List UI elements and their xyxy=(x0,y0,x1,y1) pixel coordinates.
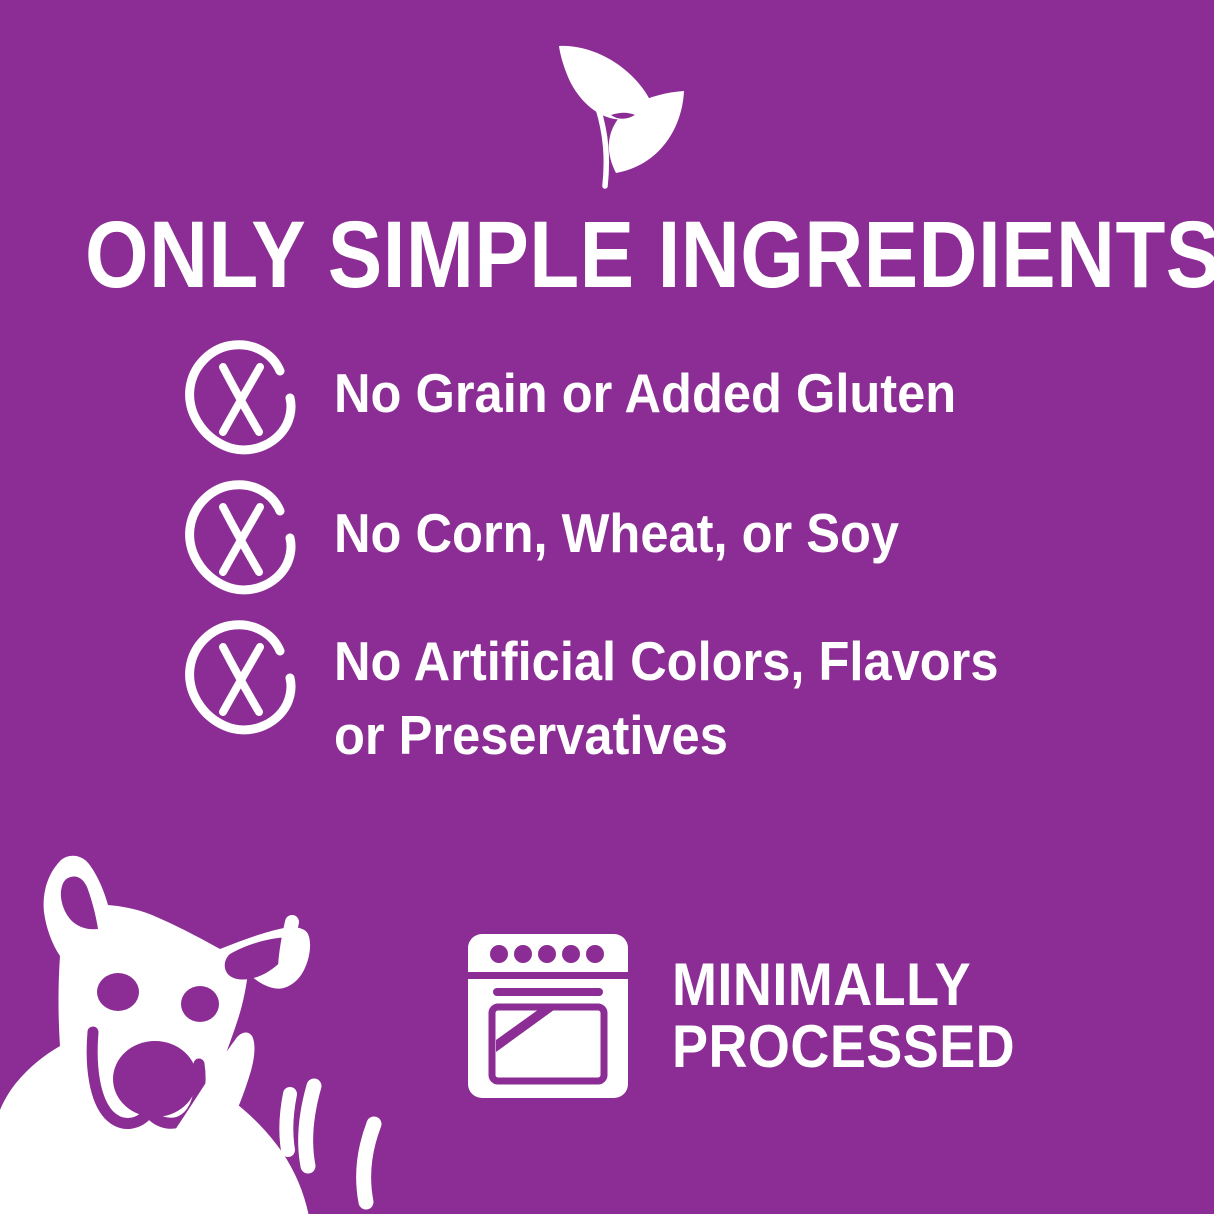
x-circle-icon xyxy=(180,476,302,598)
ingredient-claims-panel: ONLY SIMPLE INGREDIENTS No Grain or Adde… xyxy=(0,0,1214,1214)
x-circle-icon xyxy=(180,336,302,458)
list-item-label: No Artificial Colors, Flavors or Preserv… xyxy=(334,616,1020,772)
minimally-processed-line2: PROCESSED xyxy=(672,1016,1015,1078)
leaf-logo-icon xyxy=(532,36,690,196)
list-item: No Grain or Added Gluten xyxy=(180,336,1080,458)
list-item-line1: No Grain or Added Gluten xyxy=(334,362,956,424)
minimally-processed-line1: MINIMALLY xyxy=(672,951,971,1018)
claims-list: No Grain or Added Gluten No Corn, Wheat,… xyxy=(180,336,1080,790)
x-circle-icon xyxy=(180,616,302,738)
list-item: No Corn, Wheat, or Soy xyxy=(180,476,1080,598)
minimally-processed-badge: MINIMALLY PROCESSED xyxy=(462,928,1053,1104)
list-item-line2: or Preservatives xyxy=(334,698,1020,772)
minimally-processed-label: MINIMALLY PROCESSED xyxy=(672,954,1015,1078)
list-item-label: No Corn, Wheat, or Soy xyxy=(334,476,1020,570)
list-item-line1: No Corn, Wheat, or Soy xyxy=(334,502,899,564)
list-item-line1: No Artificial Colors, Flavors xyxy=(334,630,998,692)
page-title: ONLY SIMPLE INGREDIENTS xyxy=(85,207,1129,303)
list-item: No Artificial Colors, Flavors or Preserv… xyxy=(180,616,1080,772)
oven-icon xyxy=(462,928,634,1104)
list-item-label: No Grain or Added Gluten xyxy=(334,336,1020,430)
dog-illustration xyxy=(0,836,422,1214)
